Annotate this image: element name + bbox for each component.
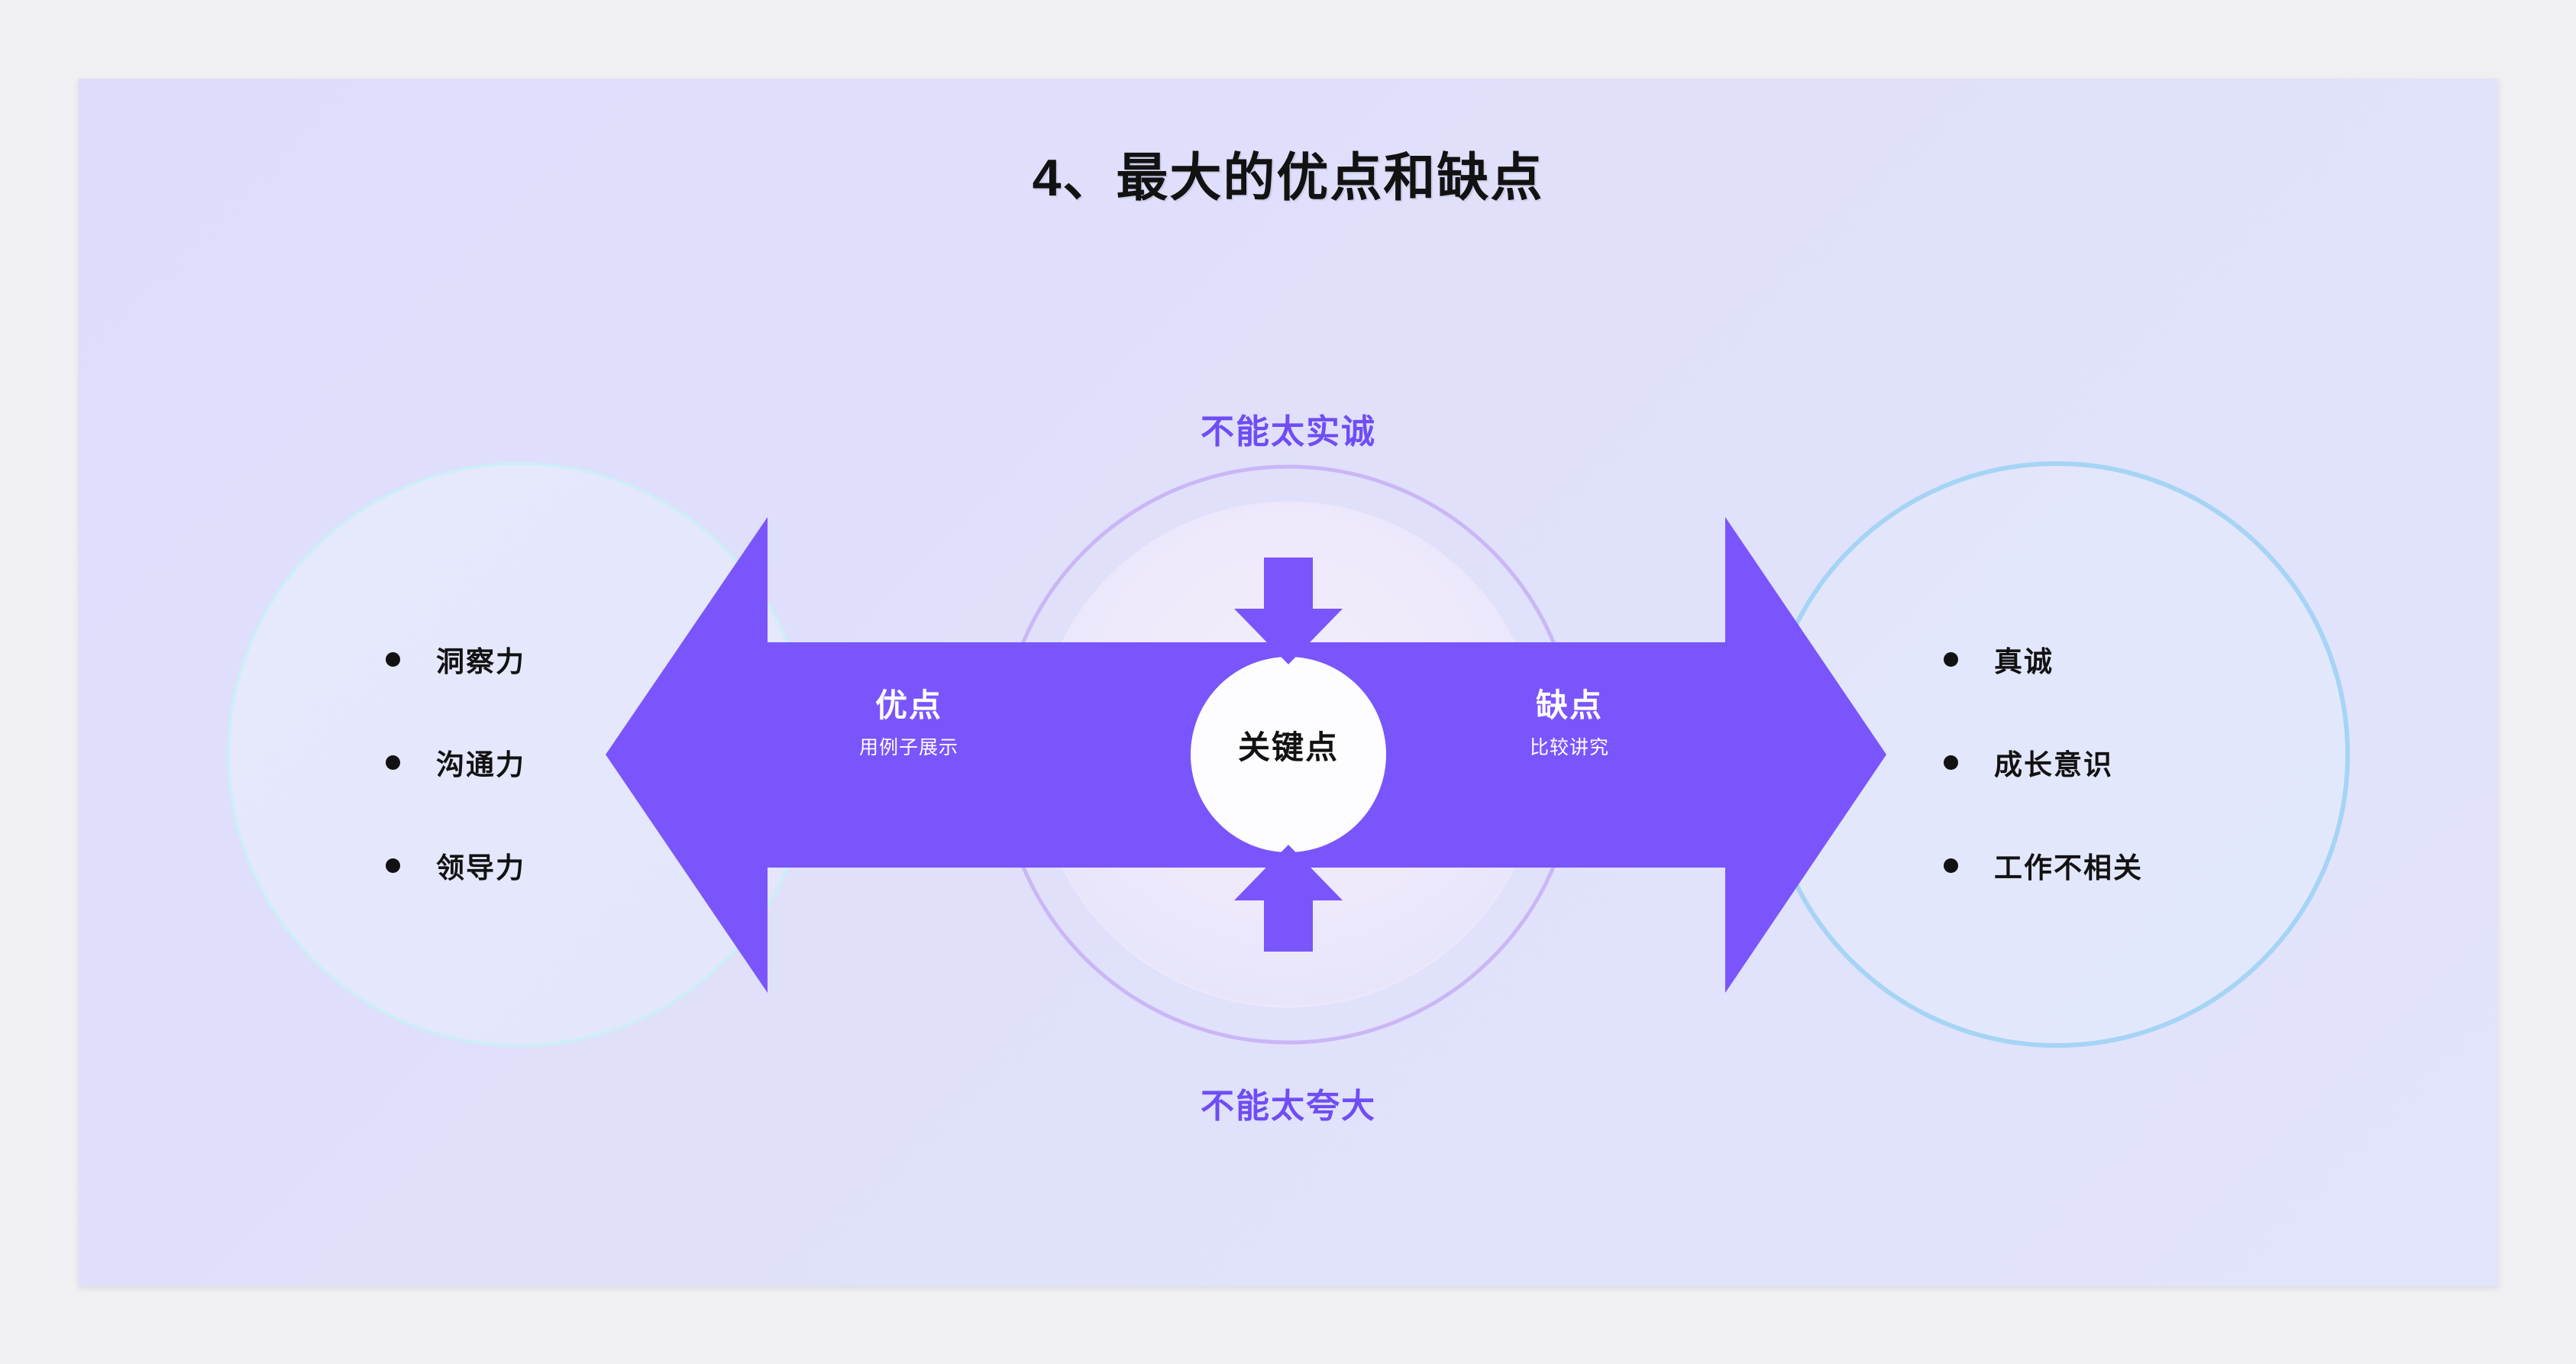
list-item-label: 沟通力	[436, 742, 525, 783]
bullet-dot-icon	[1944, 755, 1958, 770]
list-item: 真诚	[1944, 635, 2310, 683]
left-arrow-title: 优点	[810, 687, 1008, 724]
list-item: 沟通力	[386, 739, 706, 786]
list-item-label: 真诚	[1994, 638, 2054, 680]
list-item-label: 成长意识	[1994, 742, 2113, 783]
center-circle-label: 关键点	[1097, 722, 1479, 768]
right-arrow-label-group: 缺点 比较讲究	[1470, 687, 1669, 759]
list-item-label: 领导力	[436, 845, 525, 886]
left-arrow-label-group: 优点 用例子展示	[810, 687, 1008, 759]
list-item: 领导力	[386, 842, 706, 889]
ring-label-top: 不能太实诚	[945, 404, 1632, 453]
bullet-dot-icon	[1944, 652, 1958, 667]
right-arrow-title: 缺点	[1470, 687, 1669, 724]
slide-root: 不能太实诚 不能太夸大 优点 用例子展示 缺点 比较讲究 关键点 洞察力 沟通力…	[0, 0, 2576, 1364]
right-arrow-subtitle: 比较讲究	[1470, 736, 1669, 759]
bullet-dot-icon	[386, 858, 400, 873]
bullet-dot-icon	[386, 755, 400, 770]
bullet-dot-icon	[1944, 858, 1958, 873]
right-bullet-list: 真诚 成长意识 工作不相关	[1944, 635, 2310, 945]
ring-label-bottom: 不能太夸大	[945, 1078, 1632, 1127]
list-item: 成长意识	[1944, 739, 2310, 786]
list-item-label: 洞察力	[436, 638, 525, 680]
left-bullet-list: 洞察力 沟通力 领导力	[386, 635, 706, 945]
list-item: 洞察力	[386, 635, 706, 683]
page-title: 4、最大的优点和缺点	[0, 147, 2576, 210]
list-item-label: 工作不相关	[1994, 845, 2143, 886]
left-arrow-subtitle: 用例子展示	[810, 736, 1008, 759]
bullet-dot-icon	[386, 652, 400, 667]
list-item: 工作不相关	[1944, 842, 2310, 889]
